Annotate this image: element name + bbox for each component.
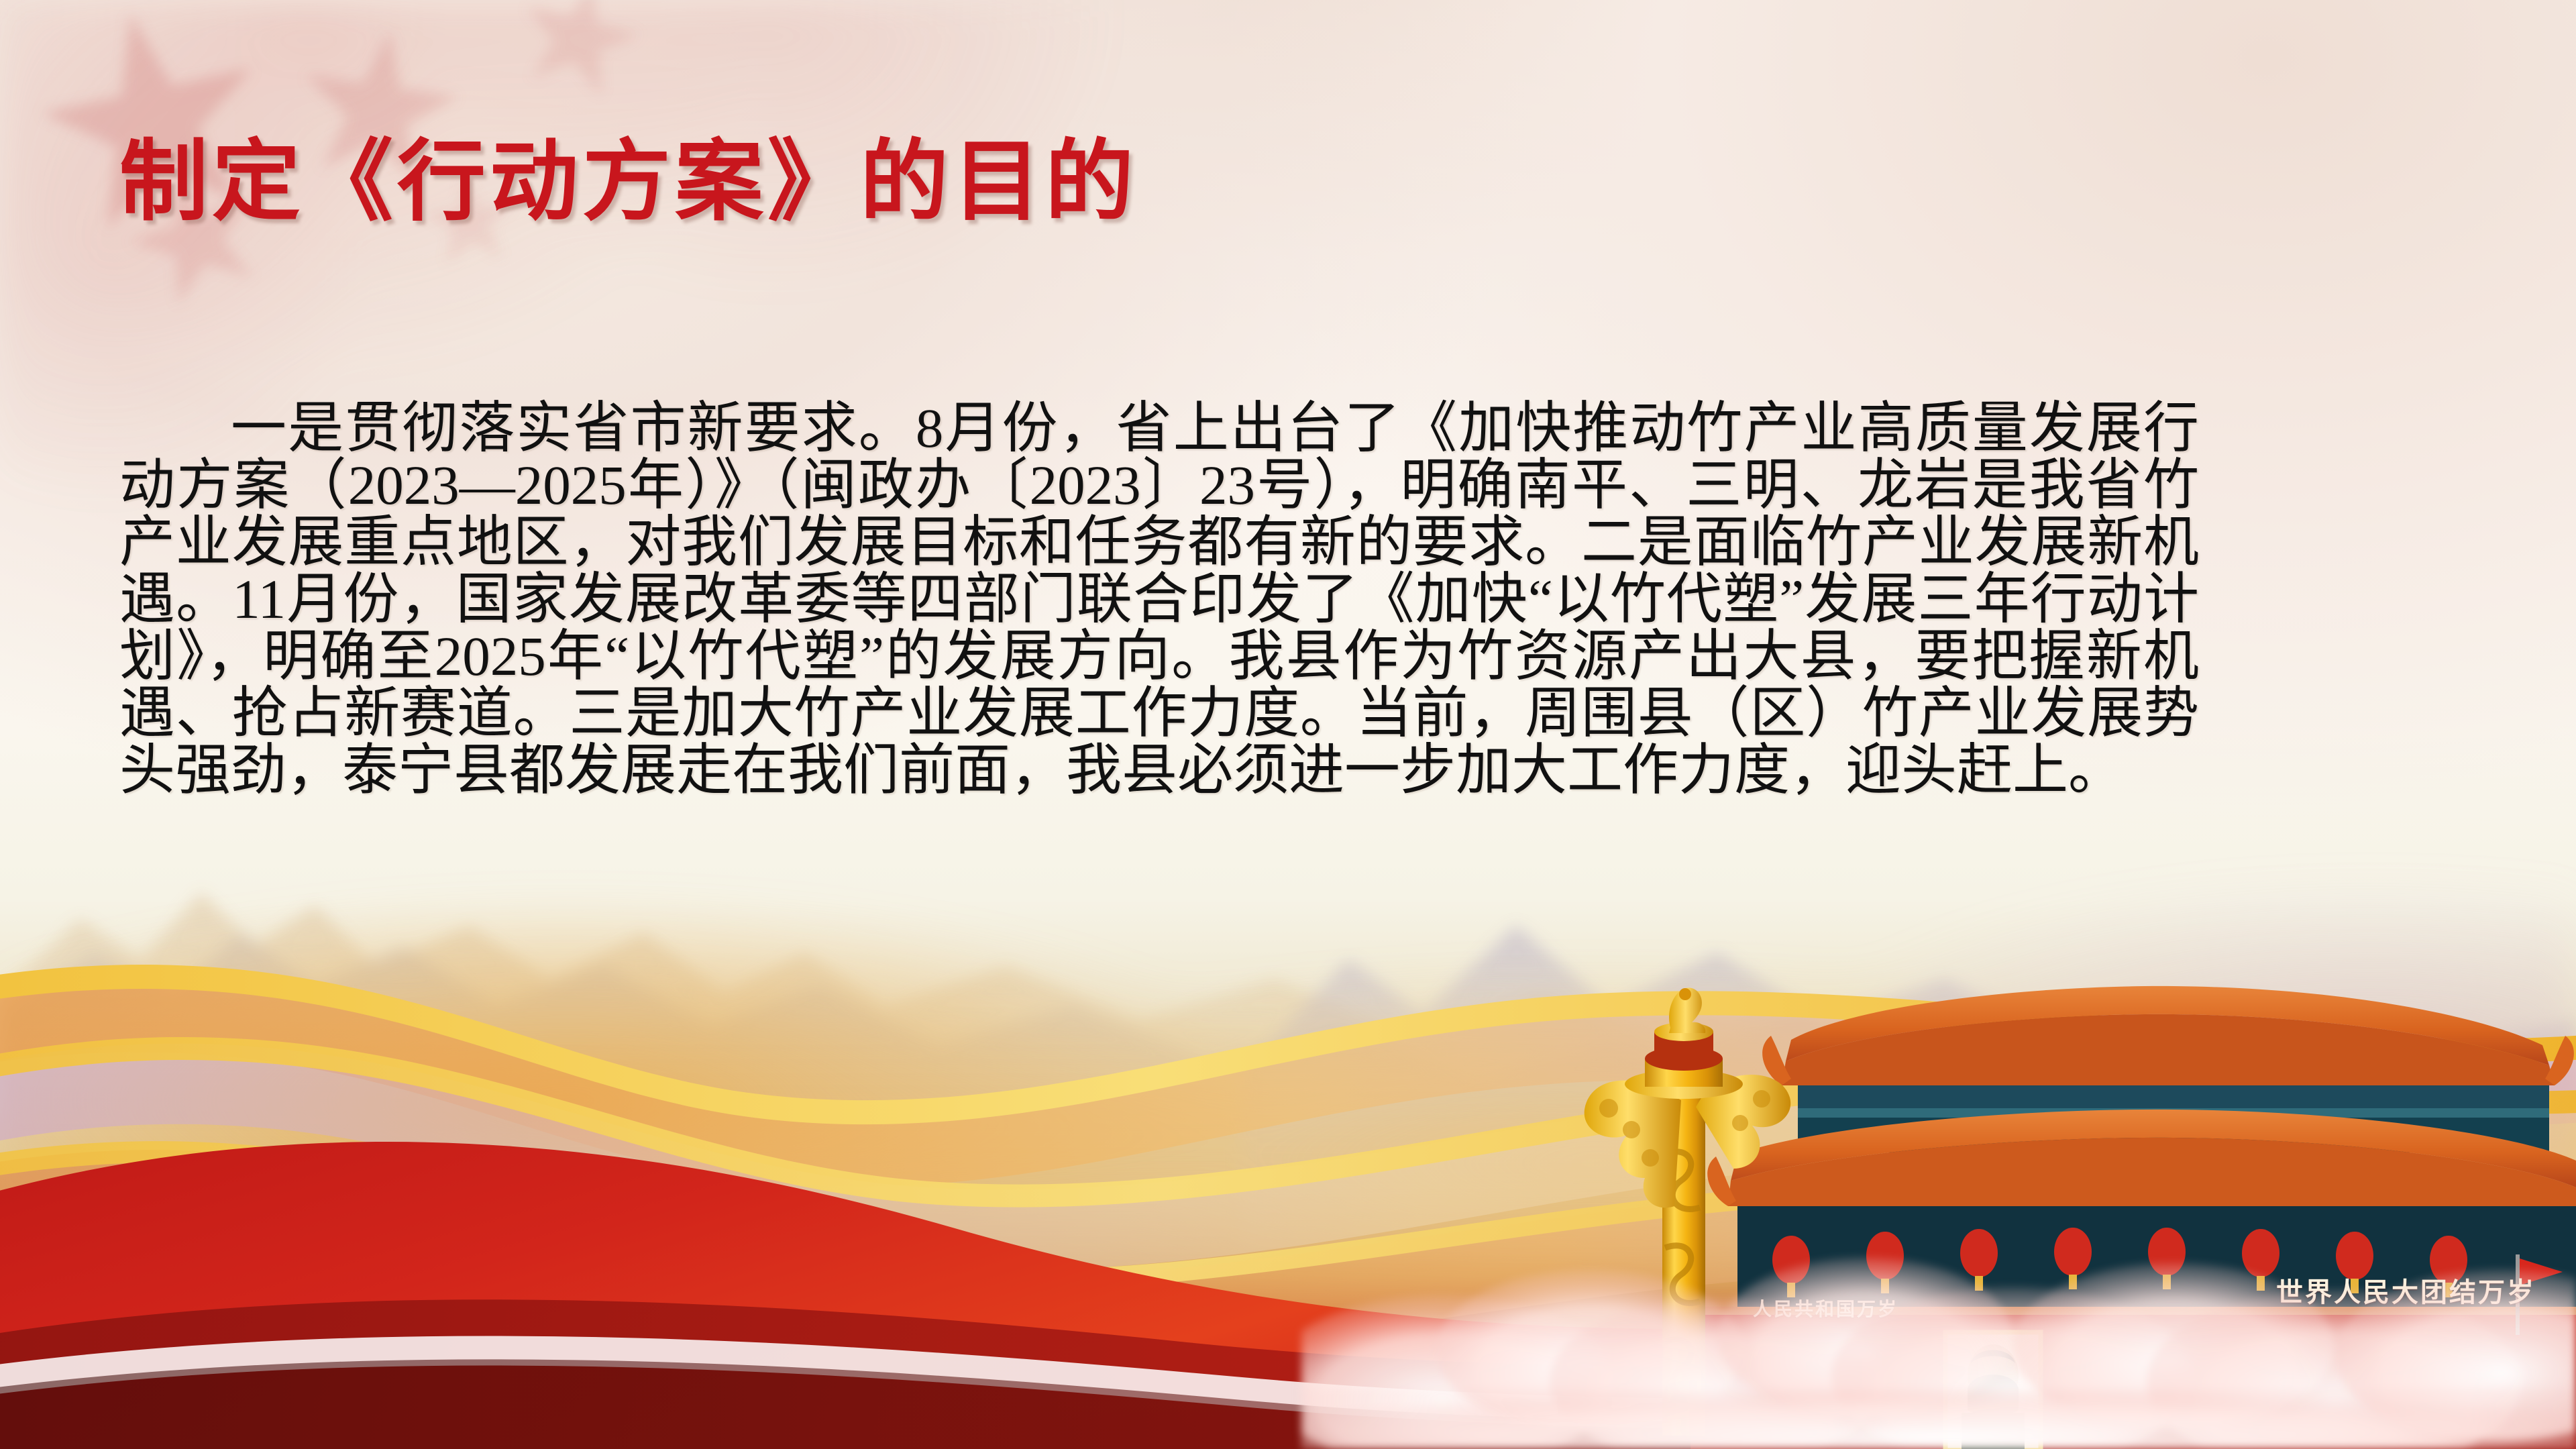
presentation-slide: ★ ★ ★ ★ ★ (0, 0, 2576, 1449)
slide-content: 制定《行动方案》的目的 一是贯彻落实省市新要求。8月份，省上出台了《加快推动竹产… (0, 0, 2576, 1449)
page-title: 制定《行动方案》的目的 (119, 133, 1138, 232)
slide-body-text: 一是贯彻落实省市新要求。8月份，省上出台了《加快推动竹产业高质量发展行动方案（2… (119, 400, 2199, 799)
